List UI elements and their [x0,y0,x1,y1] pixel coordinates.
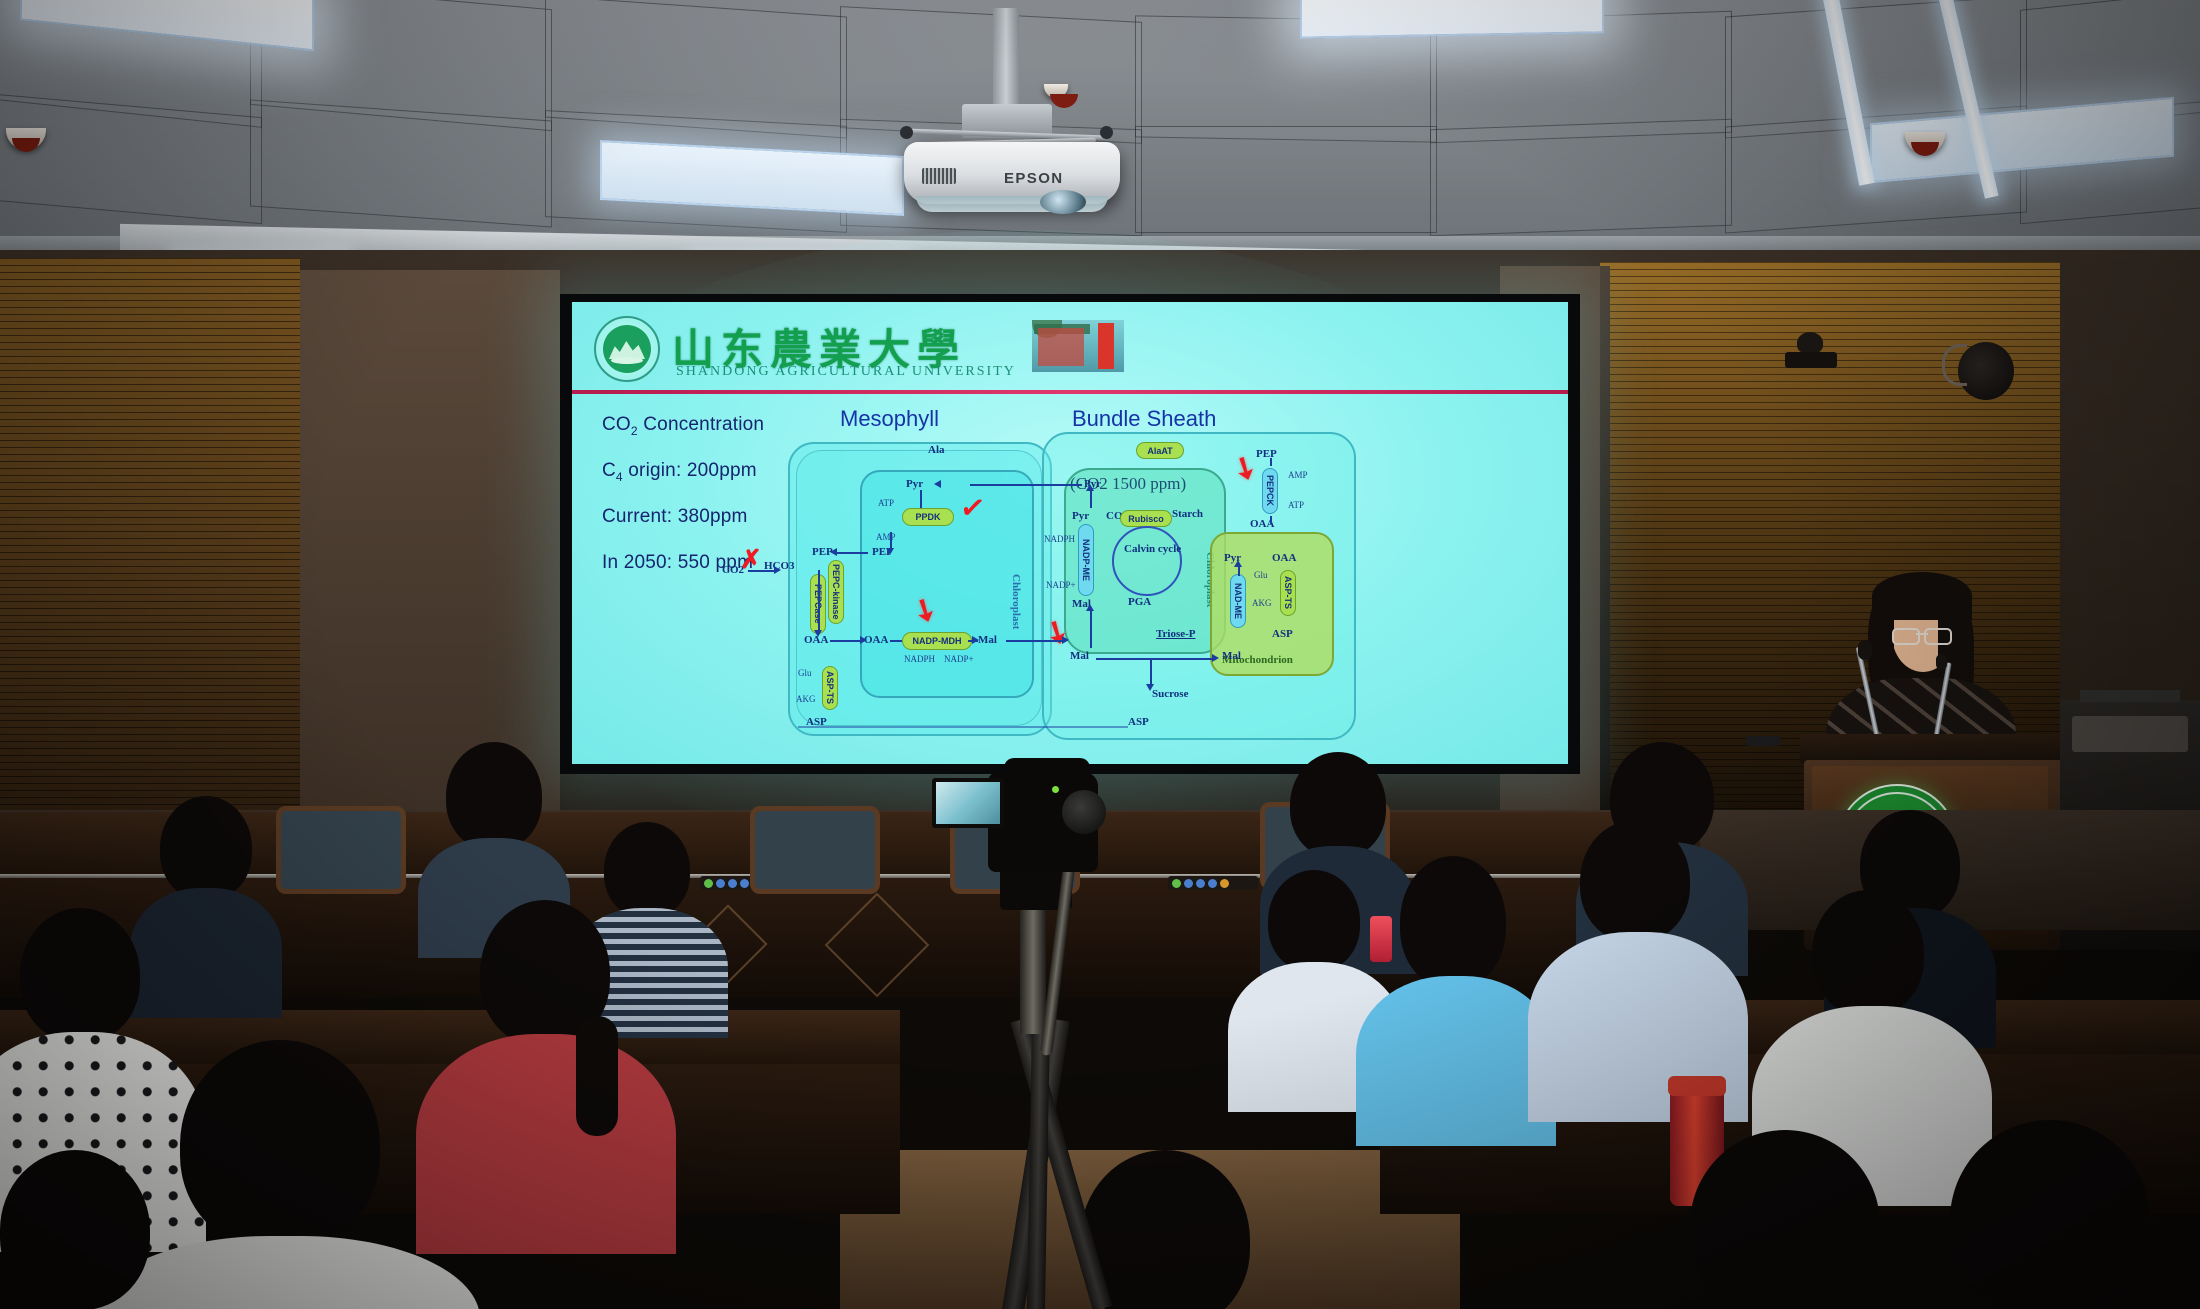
control-button-3[interactable] [1196,879,1205,888]
metabolite-oaa-chl: OAA [864,634,888,646]
calvin-cycle-ring [1112,526,1182,596]
chair [276,806,406,894]
enzyme-ppdk: PPDK [902,508,954,526]
metabolite-asp-bs-bottom: ASP [1128,716,1149,728]
enzyme-nadp-me: NADP-ME [1078,524,1094,596]
slide-bullet-0: CO2 Concentration [602,414,764,438]
metabolite-starch: Starch [1172,508,1203,520]
metabolite-pyr-bschl: Pyr [1072,510,1089,522]
metabolite-triose-p: Triose-P [1156,628,1196,640]
label-mesophyll-chloroplast: Chloroplast [1010,574,1022,629]
metabolite-asp-mito: ASP [1272,628,1293,640]
metabolite-glu-left: Glu [798,668,812,678]
cofactor-amp-bs: AMP [1288,470,1308,480]
shandong-agricultural-university-logo [594,316,660,382]
camcorder-indicator [1052,786,1059,793]
lecture-hall-photo: EPSON 山东農 [0,0,2200,1309]
microphone-head [1858,640,1872,660]
red-cross-mark: ✗ [740,546,762,572]
enzyme-nadp-mdh: NADP-MDH [902,632,972,650]
bullet-1-pre: C [602,460,616,481]
slide-header: 山东農業大學 SHANDONG AGRICULTURAL UNIVERSITY [572,302,1568,390]
wall-left-wood [0,258,300,818]
wall-speaker [1958,342,2014,400]
wall-mounted-ptz-camera [1785,332,1841,374]
metabolite-pga: PGA [1128,596,1151,608]
projector-brand-label: EPSON [1004,170,1064,187]
metabolite-akg-right: AKG [1252,598,1272,608]
microphone-head-2 [1936,654,1947,670]
enzyme-asp-ts-right: ASP-TS [1280,570,1296,616]
camcorder-top [1004,758,1090,784]
cofactor-amp: AMP [876,532,896,542]
metabolite-oaa-mito: OAA [1272,552,1296,564]
calvin-cycle-text: Calvin cycle [1124,543,1181,555]
enzyme-nad-me: NAD-ME [1230,574,1246,628]
slide-bullet-2: Current: 380ppm [602,506,748,528]
presenter-remote[interactable] [1746,736,1780,746]
projector-lens [1040,190,1086,214]
column-title-mesophyll: Mesophyll [840,406,939,432]
column-title-bundle-sheath: Bundle Sheath [1072,406,1216,432]
cofactor-atp-bs: ATP [1288,500,1304,510]
red-check-mark: ✓ [958,492,987,525]
metabolite-mal-chl: Mal [978,634,997,646]
chair [750,806,880,894]
enzyme-pepck: PEPCK [1262,468,1278,514]
desk-control-panel-2[interactable] [1168,876,1258,890]
slide-title-en: SHANDONG AGRICULTURAL UNIVERSITY [676,364,1016,380]
metabolite-sucrose: Sucrose [1152,688,1188,700]
control-button-1[interactable] [704,879,713,888]
camcorder-lens [1062,790,1106,834]
projection-screen: 山东農業大學 SHANDONG AGRICULTURAL UNIVERSITY … [572,302,1568,764]
slide-bullet-1: C4 origin: 200ppm [602,460,757,484]
bullet-0-post: Concentration [638,414,764,435]
projector-mount-pole [993,8,1019,108]
metabolite-mal-bs: Mal [1070,650,1089,662]
control-button-2[interactable] [716,879,725,888]
metabolite-pyr-meso: Pyr [906,478,923,490]
camcorder-lcd-screen [932,778,1004,828]
control-button-2[interactable] [1184,879,1193,888]
metabolite-mal-mito: Mal [1222,650,1241,662]
cofactor-nadph-bs: NADPH [1044,534,1075,544]
control-button-5[interactable] [1220,879,1229,888]
laptop [2080,690,2180,702]
bullet-1-sub: 4 [616,470,623,484]
cofactor-nadp-meso: NADP+ [944,654,974,664]
cofactor-nadp-bs: NADP+ [1046,580,1076,590]
campus-photo [1032,320,1124,372]
ceiling [0,0,2200,250]
presentation-slide: 山东農業大學 SHANDONG AGRICULTURAL UNIVERSITY … [572,302,1568,764]
control-button-3[interactable] [728,879,737,888]
thermos-lid [1668,1076,1726,1096]
enzyme-rubisco: Rubisco [1120,510,1172,527]
bullet-1-post: origin: 200ppm [623,460,757,481]
control-button-4[interactable] [1208,879,1217,888]
metabolite-akg-left: AKG [796,694,816,704]
av-rack-panel [2072,716,2188,752]
control-button-4[interactable] [740,879,749,888]
bullet-0-pre: CO [602,414,631,435]
metabolite-ala: Ala [928,444,945,456]
bullet-0-sub: 2 [631,424,638,438]
label-calvin-cycle: Calvin cycle [1124,542,1181,556]
water-bottle [1370,916,1392,962]
presenter-glasses [1892,628,1952,641]
enzyme-pepc-kinase: PEPC-kinase [828,560,844,624]
enzyme-asp-ts-left: ASP-TS [822,666,838,710]
cofactor-nadph-meso: NADPH [904,654,935,664]
enzyme-alaat: AlaAT [1136,442,1184,459]
ponytail [576,1016,618,1136]
ceiling-light [1300,0,1604,39]
control-button-1[interactable] [1172,879,1181,888]
cofactor-atp: ATP [878,498,894,508]
slide-header-rule [572,390,1568,394]
metabolite-glu-right: Glu [1254,570,1268,580]
